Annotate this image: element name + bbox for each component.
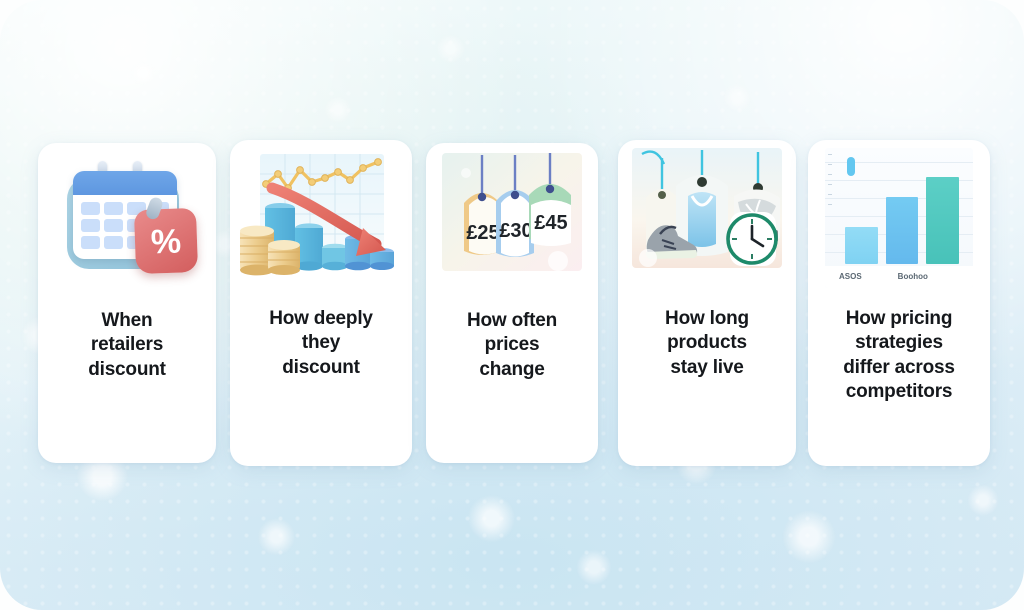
declining-chart-illustration [230, 140, 412, 295]
card-how-often-prices-change[interactable]: £25 £30 £45 Ho [426, 143, 598, 463]
card-label: How deeply they discount [261, 307, 381, 380]
declining-bar-chart-icon [230, 140, 412, 295]
percent-tag-icon: % [134, 208, 198, 274]
competitor-bar-chart: ASOS Boohoo [825, 148, 973, 288]
price-tags-illustration: £25 £30 £45 [426, 143, 598, 295]
card-when-retailers-discount[interactable]: % When retailers discount [38, 143, 216, 463]
calendar-discount-illustration: % [38, 143, 216, 295]
products-live-illustration [618, 140, 796, 295]
svg-text:£45: £45 [534, 212, 567, 234]
card-label: How often prices change [459, 309, 565, 382]
apparel-tags-watch-icon [618, 140, 796, 295]
card-how-pricing-strategies-differ[interactable]: ASOS Boohoo How pricing strategies diffe… [808, 140, 990, 466]
card-row: % When retailers discount [0, 0, 1024, 610]
card-how-long-products-stay-live[interactable]: How long products stay live [618, 140, 796, 466]
card-label: How pricing strategies differ across com… [835, 307, 962, 404]
card-how-deeply-they-discount[interactable]: How deeply they discount [230, 140, 412, 466]
chart-x-axis-labels: ASOS Boohoo [825, 266, 973, 288]
calendar-header [73, 171, 177, 195]
hanging-price-tags-icon: £25 £30 £45 [426, 143, 598, 295]
chart-y-ticks [828, 154, 832, 214]
infographic-page: % When retailers discount [0, 0, 1024, 610]
bar-boohoo [926, 177, 959, 263]
x-tick-boohoo: Boohoo [898, 272, 928, 281]
competitor-chart-illustration: ASOS Boohoo [808, 140, 990, 295]
bar-middle [886, 197, 919, 264]
card-label: When retailers discount [80, 309, 174, 382]
svg-text:£30: £30 [499, 220, 532, 242]
card-label: How long products stay live [657, 307, 757, 380]
bar-asos [845, 227, 878, 264]
chart-bars [841, 156, 963, 264]
x-tick-asos: ASOS [839, 272, 862, 281]
svg-text:£25: £25 [466, 222, 499, 244]
